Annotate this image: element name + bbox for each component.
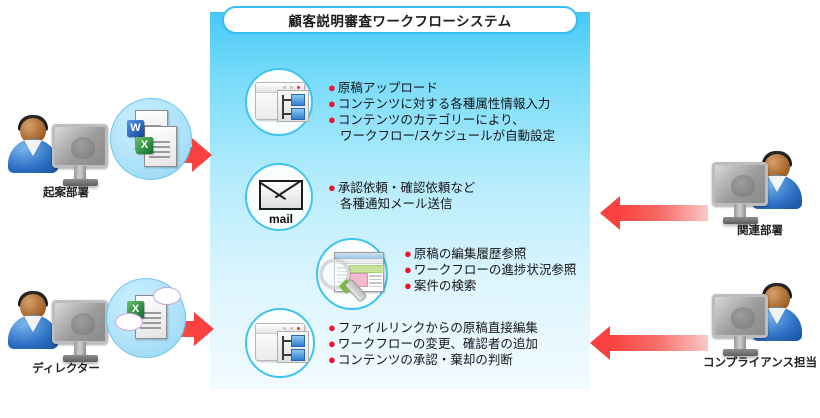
bullet-item: ● ワークフローの変更、確認者の追加 (328, 336, 538, 352)
window-dot (290, 86, 293, 89)
actor-bottom-right[interactable]: コンプライアンス担当 (700, 282, 820, 374)
actor-figure (700, 150, 820, 222)
window-dot (283, 86, 286, 89)
page-title: 顧客説明審査ワークフローシステム (288, 10, 511, 30)
arrow-shaft (620, 205, 708, 221)
system-title-box: 顧客説明審査ワークフローシステム (222, 6, 578, 34)
bullet-label: コンテンツに対する各種属性情報入力 (338, 96, 551, 112)
bullet-dot: ● (328, 96, 336, 112)
flow-node (291, 335, 305, 347)
window-close-dot (297, 86, 300, 89)
bullet-label: ワークフローの進捗状況参照 (414, 262, 577, 278)
flow-node (291, 349, 305, 361)
flow-node (291, 94, 305, 106)
feature-icon-search[interactable] (316, 238, 388, 310)
flap-line (275, 182, 301, 198)
excel-icon: X (136, 137, 153, 154)
bullet-label: 承認依頼・確認依頼など (338, 180, 476, 196)
arrow-head (600, 196, 620, 230)
flowchart-icon (277, 331, 309, 363)
bullet-dot: ● (328, 320, 336, 336)
feature-icon-mail[interactable]: mail (245, 163, 313, 231)
flowchart-icon (277, 90, 309, 122)
monitor-screen (52, 124, 108, 168)
actor-label-compliance: コンプライアンス担当 (692, 354, 820, 370)
monitor-neck (734, 336, 746, 350)
arrow-head (194, 312, 214, 346)
browser-banner (349, 265, 384, 273)
mail-icon (259, 180, 303, 210)
bullet-dot: ● (328, 80, 336, 96)
document-icon-lower[interactable]: X (106, 278, 186, 358)
flow-node (291, 108, 305, 120)
window-dot (283, 327, 286, 330)
bullet-label: 案件の検索 (414, 278, 477, 294)
bullet-dot: ● (404, 278, 412, 294)
monitor-screen (712, 294, 768, 338)
arrow-top-right-to-system (600, 196, 708, 230)
feature-icon-workflow-2[interactable] (245, 308, 315, 378)
actor-top-right[interactable]: 関連部署 (700, 150, 820, 242)
actor-figure (700, 282, 820, 354)
actor-label-related: 関連部署 (700, 222, 820, 238)
document-icon-upper[interactable]: W X (110, 98, 192, 180)
bullet-item: ● 承認依頼・確認依頼など (328, 180, 475, 196)
window-close-dot (297, 327, 300, 330)
mail-icon-label: mail (247, 212, 315, 226)
envelope-flap (261, 182, 301, 208)
comment-bubble (153, 287, 181, 305)
diagram-canvas: 顧客説明審査ワークフローシステム ● 原稿アップロード (0, 0, 820, 418)
monitor-screen (52, 300, 108, 344)
bullet-dot: ● (328, 112, 336, 128)
bullet-label: ファイルリンクからの原稿直接編集 (338, 320, 538, 336)
feature-text-4: ● ファイルリンクからの原稿直接編集 ● ワークフローの変更、確認者の追加 ● … (328, 320, 538, 368)
monitor-neck (74, 166, 86, 180)
actor-label-kian: 起案部署 (6, 184, 126, 200)
arrow-shaft (610, 335, 708, 351)
feature-text-1: ● 原稿アップロード ● コンテンツに対する各種属性情報入力 ● コンテンツのカ… (328, 80, 555, 144)
arrow-head (192, 138, 212, 172)
actor-label-director: ディレクター (6, 360, 126, 376)
bullet-dot: ● (328, 180, 336, 196)
window-dot (290, 327, 293, 330)
word-icon: W (127, 120, 144, 137)
bullet-dot: ● (328, 352, 336, 368)
bullet-continuation: 各種通知メール送信 (328, 196, 475, 212)
actor-top-left[interactable]: 起案部署 (6, 112, 126, 204)
bullet-dot: ● (328, 336, 336, 352)
feature-text-2: ● 承認依頼・確認依頼など 各種通知メール送信 (328, 180, 475, 212)
monitor-screen (712, 162, 768, 206)
arrow-head (590, 326, 610, 360)
bullet-item: ● ワークフローの進捗状況参照 (404, 262, 576, 278)
bullet-label: ワークフローの変更、確認者の追加 (338, 336, 538, 352)
bullet-continuation: ワークフロー/スケジュールが自動設定 (328, 128, 555, 144)
arrow-bottom-right-to-system (590, 326, 708, 360)
bullet-item: ● ファイルリンクからの原稿直接編集 (328, 320, 538, 336)
bullet-dot: ● (404, 246, 412, 262)
bullet-label: コンテンツのカテゴリーにより、 (338, 112, 525, 128)
bullet-dot: ● (404, 262, 412, 278)
bullet-label: 原稿の編集履歴参照 (414, 246, 527, 262)
bullet-item: ● コンテンツの承認・棄却の判断 (328, 352, 538, 368)
bullet-label: コンテンツの承認・棄却の判断 (338, 352, 513, 368)
feature-text-3: ● 原稿の編集履歴参照 ● ワークフローの進捗状況参照 ● 案件の検索 (404, 246, 576, 294)
bullet-item: ● コンテンツのカテゴリーにより、 (328, 112, 555, 128)
browser-text-lines (369, 273, 382, 289)
bullet-item: ● 原稿の編集履歴参照 (404, 246, 576, 262)
bullet-label: 原稿アップロード (338, 80, 438, 96)
monitor-neck (74, 342, 86, 356)
bullet-item: ● 原稿アップロード (328, 80, 555, 96)
bullet-item: ● コンテンツに対する各種属性情報入力 (328, 96, 555, 112)
bullet-item: ● 案件の検索 (404, 278, 576, 294)
feature-icon-workflow-1[interactable] (245, 68, 313, 136)
monitor-neck (734, 204, 746, 218)
comment-bubble (115, 313, 143, 331)
actor-figure (6, 112, 126, 184)
